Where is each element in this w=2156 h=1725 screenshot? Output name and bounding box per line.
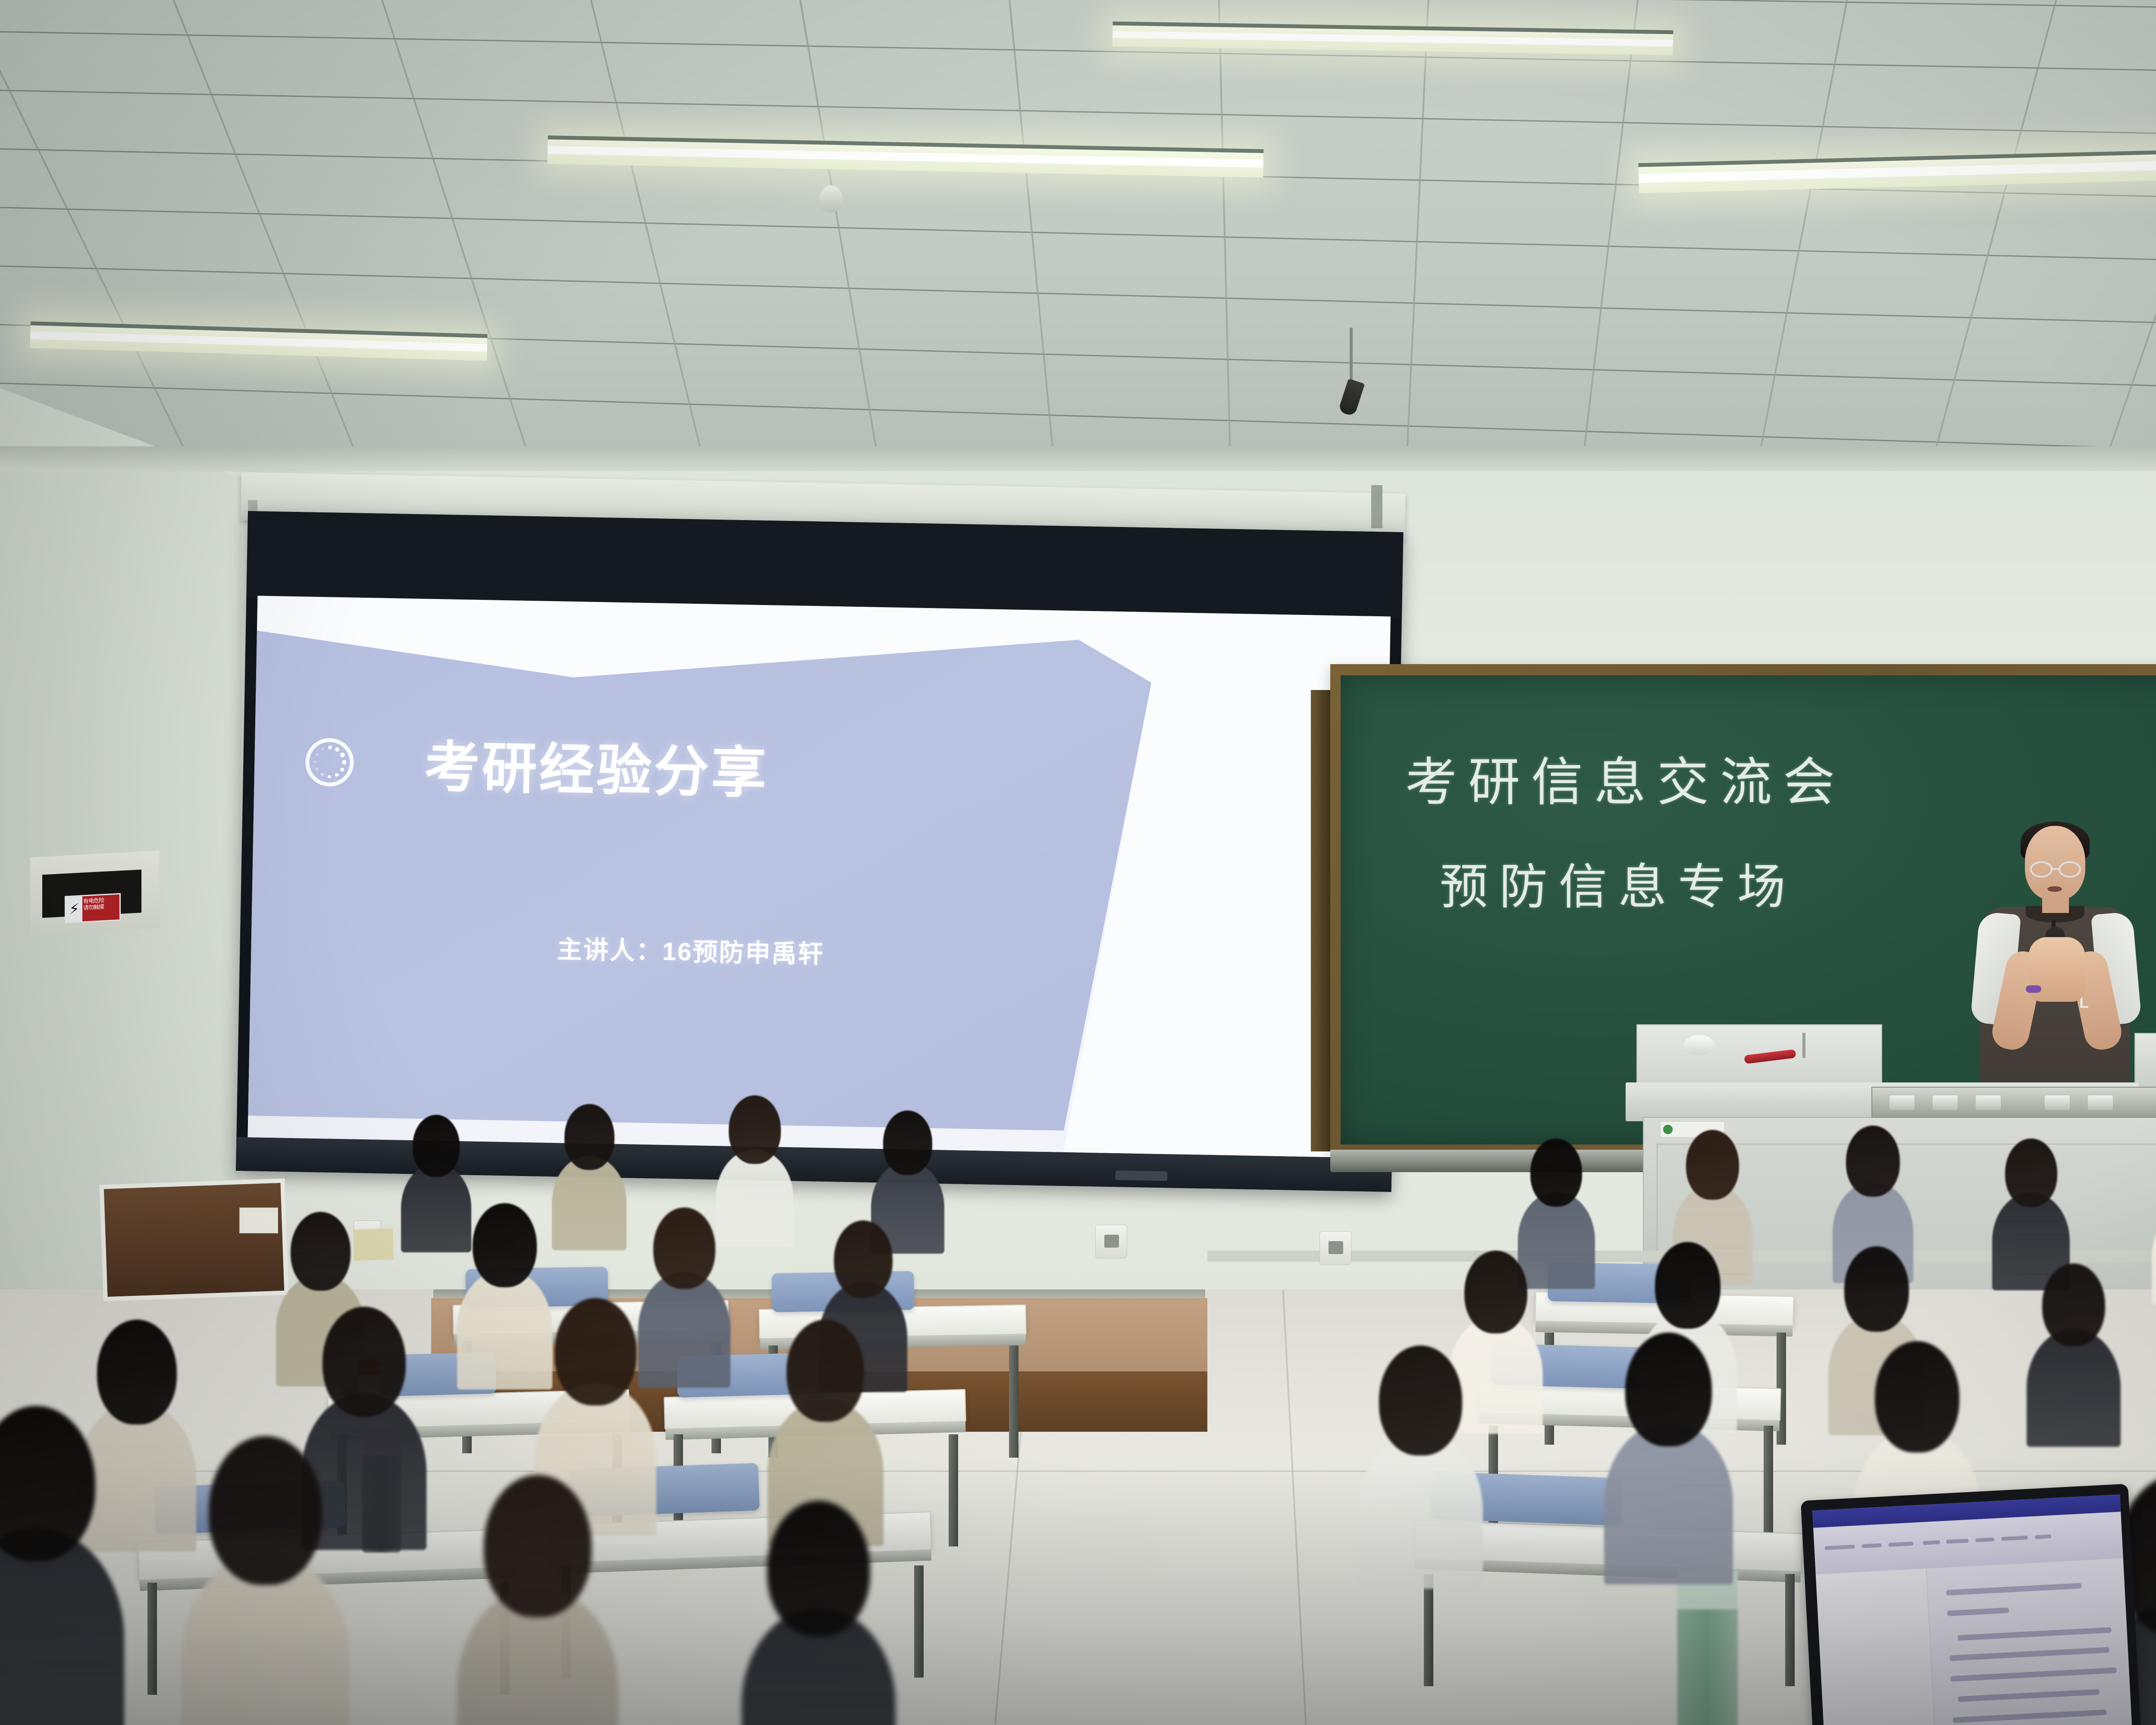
audience-head xyxy=(473,1203,536,1287)
ceiling-grid-line xyxy=(0,203,2156,277)
ring-dot xyxy=(328,745,332,750)
water-bottle[interactable] xyxy=(1677,1570,1738,1725)
ring-dot xyxy=(322,748,323,750)
ring-dot xyxy=(316,768,318,770)
audience-head xyxy=(2042,1264,2105,1346)
student-laptop[interactable] xyxy=(1801,1483,2140,1725)
ceiling-mount-pole xyxy=(1350,328,1353,384)
av-button[interactable] xyxy=(1933,1095,1958,1110)
audience-torso xyxy=(1604,1422,1733,1585)
av-button[interactable] xyxy=(2088,1095,2113,1110)
blackboard-left-edge xyxy=(1311,690,1332,1151)
audience-head xyxy=(834,1220,893,1298)
audience-head xyxy=(413,1115,460,1177)
laptop-lid xyxy=(1801,1483,2140,1725)
desk-leg xyxy=(1424,1574,1433,1686)
ring-dot xyxy=(335,747,339,752)
audience-head xyxy=(209,1436,322,1585)
desk-leg xyxy=(1009,1345,1018,1458)
computer-mouse-icon[interactable] xyxy=(1684,1035,1715,1055)
ceiling-grid-line xyxy=(1216,0,1234,483)
ceiling-grid-line xyxy=(1570,0,1649,483)
ring-dot xyxy=(316,753,318,756)
av-button[interactable] xyxy=(1976,1095,2001,1110)
audience-head xyxy=(484,1475,592,1617)
microphone-stand xyxy=(1802,1033,1805,1058)
screen-surface: 考研经验分享 主讲人：16预防申禹轩 xyxy=(248,596,1391,1158)
power-outlet[interactable] xyxy=(1095,1225,1127,1258)
ring-dot xyxy=(328,775,331,778)
laptop-screen[interactable] xyxy=(1812,1495,2132,1725)
ceiling-grid-line xyxy=(0,86,2156,147)
ceiling-light-fixture xyxy=(30,321,487,361)
ring-dot xyxy=(335,773,339,777)
audience-head xyxy=(1686,1130,1739,1200)
warning-text: 有电危险 请勿触摸 xyxy=(82,894,119,922)
audience-head xyxy=(729,1095,781,1164)
ring-dot xyxy=(321,773,324,776)
audience-head xyxy=(883,1110,932,1175)
desk-leg xyxy=(1785,1574,1795,1686)
audience-member xyxy=(742,1501,896,1725)
ceiling-grid-line xyxy=(1740,0,1865,483)
chalk-heading-line2: 预防信息专场 xyxy=(1440,848,1797,918)
classroom-photo: 考研经验分享 主讲人：16预防申禹轩 考研信息交流会 预防信息专场 L xyxy=(0,0,2156,1725)
audience-head xyxy=(1625,1333,1712,1446)
wrist-band xyxy=(2026,985,2041,993)
ring-dot xyxy=(314,761,316,763)
audience-torso xyxy=(1358,1432,1483,1589)
ceiling-soffit xyxy=(0,446,2156,471)
glasses-icon xyxy=(2030,861,2053,878)
desk-leg xyxy=(147,1583,157,1695)
glasses-bridge xyxy=(2052,868,2060,870)
ceiling-light-fixture xyxy=(1638,147,2156,194)
audience-head xyxy=(1875,1341,1959,1452)
smoke-detector-icon xyxy=(819,185,843,212)
electrical-warning-sticker: ⚡ 有电危险 请勿触摸 xyxy=(65,893,121,924)
slide-subtitle: 主讲人：16预防申禹轩 xyxy=(557,929,824,970)
audience-head xyxy=(1379,1345,1463,1455)
ceiling-grid-line xyxy=(1911,0,2080,483)
document-navigation-pane[interactable] xyxy=(1816,1568,1939,1725)
lightning-bolt-icon: ⚡ xyxy=(66,897,82,922)
screen-pull-handle[interactable] xyxy=(1116,1170,1167,1181)
desk-leg xyxy=(914,1565,924,1678)
ceiling-grid-line xyxy=(138,0,381,483)
ceiling-light-fixture xyxy=(548,135,1264,178)
audience-member xyxy=(1358,1345,1483,1587)
ring-dot xyxy=(342,760,346,765)
audience-torso xyxy=(2152,1209,2156,1305)
wall-frame xyxy=(99,1179,288,1302)
presentation-slide: 考研经验分享 主讲人：16预防申禹轩 xyxy=(248,596,1391,1158)
audience-head xyxy=(787,1320,864,1422)
presenter-mouth xyxy=(2047,886,2062,892)
ceiling-grid-line xyxy=(569,0,724,483)
audience-member xyxy=(2027,1264,2121,1446)
audience-head xyxy=(767,1501,870,1637)
glasses-lens-right xyxy=(2059,861,2081,878)
security-camera-icon xyxy=(1338,379,1365,417)
ceiling-light-fixture xyxy=(1112,22,1673,55)
audience-member xyxy=(457,1475,618,1725)
audience-head xyxy=(564,1104,614,1170)
audience-member xyxy=(552,1104,627,1249)
audience-head xyxy=(323,1307,406,1417)
audience-head xyxy=(1844,1246,1909,1332)
audience-head xyxy=(291,1212,351,1291)
ceiling-grid-line xyxy=(2082,0,2156,483)
av-button[interactable] xyxy=(2045,1095,2070,1110)
audience-head xyxy=(2005,1138,2057,1207)
panel-plate: ⚡ 有电危险 请勿触摸 xyxy=(42,869,141,918)
audience-member xyxy=(2152,1156,2156,1304)
audience-head xyxy=(0,1406,95,1561)
audience-member xyxy=(0,1406,124,1725)
desk-leg xyxy=(1764,1426,1773,1538)
ceiling-grid-line xyxy=(1000,0,1064,483)
ring-dot xyxy=(340,768,345,772)
chalk-heading-line1: 考研信息交流会 xyxy=(1405,740,1846,815)
power-outlet[interactable] xyxy=(1319,1231,1351,1265)
ring-dot xyxy=(340,753,345,757)
audience-head xyxy=(1655,1242,1721,1329)
audience-torso xyxy=(552,1156,627,1250)
audience-head xyxy=(1530,1138,1582,1207)
projection-screen: 考研经验分享 主讲人：16预防申禹轩 xyxy=(236,511,1404,1192)
audience-torso xyxy=(2027,1329,2121,1447)
screen-bracket-right xyxy=(1371,485,1382,528)
ceiling-grid-line xyxy=(354,0,553,483)
slide-title: 考研经验分享 xyxy=(424,740,769,801)
light-switch-plate[interactable] xyxy=(239,1207,278,1233)
audience-head xyxy=(555,1298,636,1405)
electrical-panel: ⚡ 有电危险 请勿触摸 xyxy=(30,850,160,935)
av-button[interactable] xyxy=(1890,1095,1915,1110)
audience-member xyxy=(1604,1333,1733,1583)
floor-tile-line xyxy=(1282,1290,1307,1725)
audience-head xyxy=(653,1207,715,1289)
audience-head xyxy=(1846,1126,1900,1197)
audience-member xyxy=(181,1436,350,1725)
ceiling-grid-line xyxy=(0,0,2156,19)
desk-leg xyxy=(949,1434,958,1546)
audience-head xyxy=(1464,1251,1527,1333)
suspended-ceiling xyxy=(0,0,2156,483)
warning-line-2: 请勿触摸 xyxy=(83,903,119,911)
av-control-panel[interactable] xyxy=(1871,1087,2156,1118)
